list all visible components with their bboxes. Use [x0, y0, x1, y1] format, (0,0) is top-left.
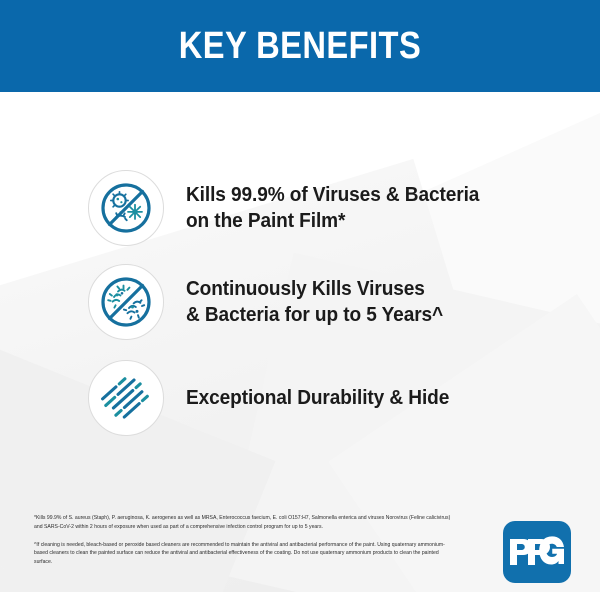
benefit-item: Kills 99.9% of Viruses & Bacteria on the…	[88, 170, 528, 246]
benefit-item: Continuously Kills Viruses & Bacteria fo…	[88, 264, 528, 340]
no-germs-virus-bacteria-icon	[88, 170, 164, 246]
footer-strip	[0, 592, 600, 600]
benefit-text: Kills 99.9% of Viruses & Bacteria on the…	[186, 182, 479, 234]
no-germs-continuous-icon	[88, 264, 164, 340]
page-title: KEY BENEFITS	[179, 25, 421, 68]
benefit-text: Continuously Kills Viruses & Bacteria fo…	[186, 276, 443, 328]
ppg-logo	[503, 521, 571, 583]
key-benefits-infographic: KEY BENEFITS	[0, 0, 600, 600]
benefits-list: Kills 99.9% of Viruses & Bacteria on the…	[0, 92, 600, 492]
benefit-item: Exceptional Durability & Hide	[88, 360, 528, 436]
footnotes: *Kills 99.9% of S. aureus (Staph), P. ae…	[34, 514, 454, 567]
footnote-asterisk: *Kills 99.9% of S. aureus (Staph), P. ae…	[34, 514, 454, 532]
header-banner: KEY BENEFITS	[0, 0, 600, 92]
paint-strokes-durability-icon	[88, 360, 164, 436]
benefit-text: Exceptional Durability & Hide	[186, 385, 449, 411]
footnote-caret: ^If cleaning is needed, bleach-based or …	[34, 541, 454, 567]
